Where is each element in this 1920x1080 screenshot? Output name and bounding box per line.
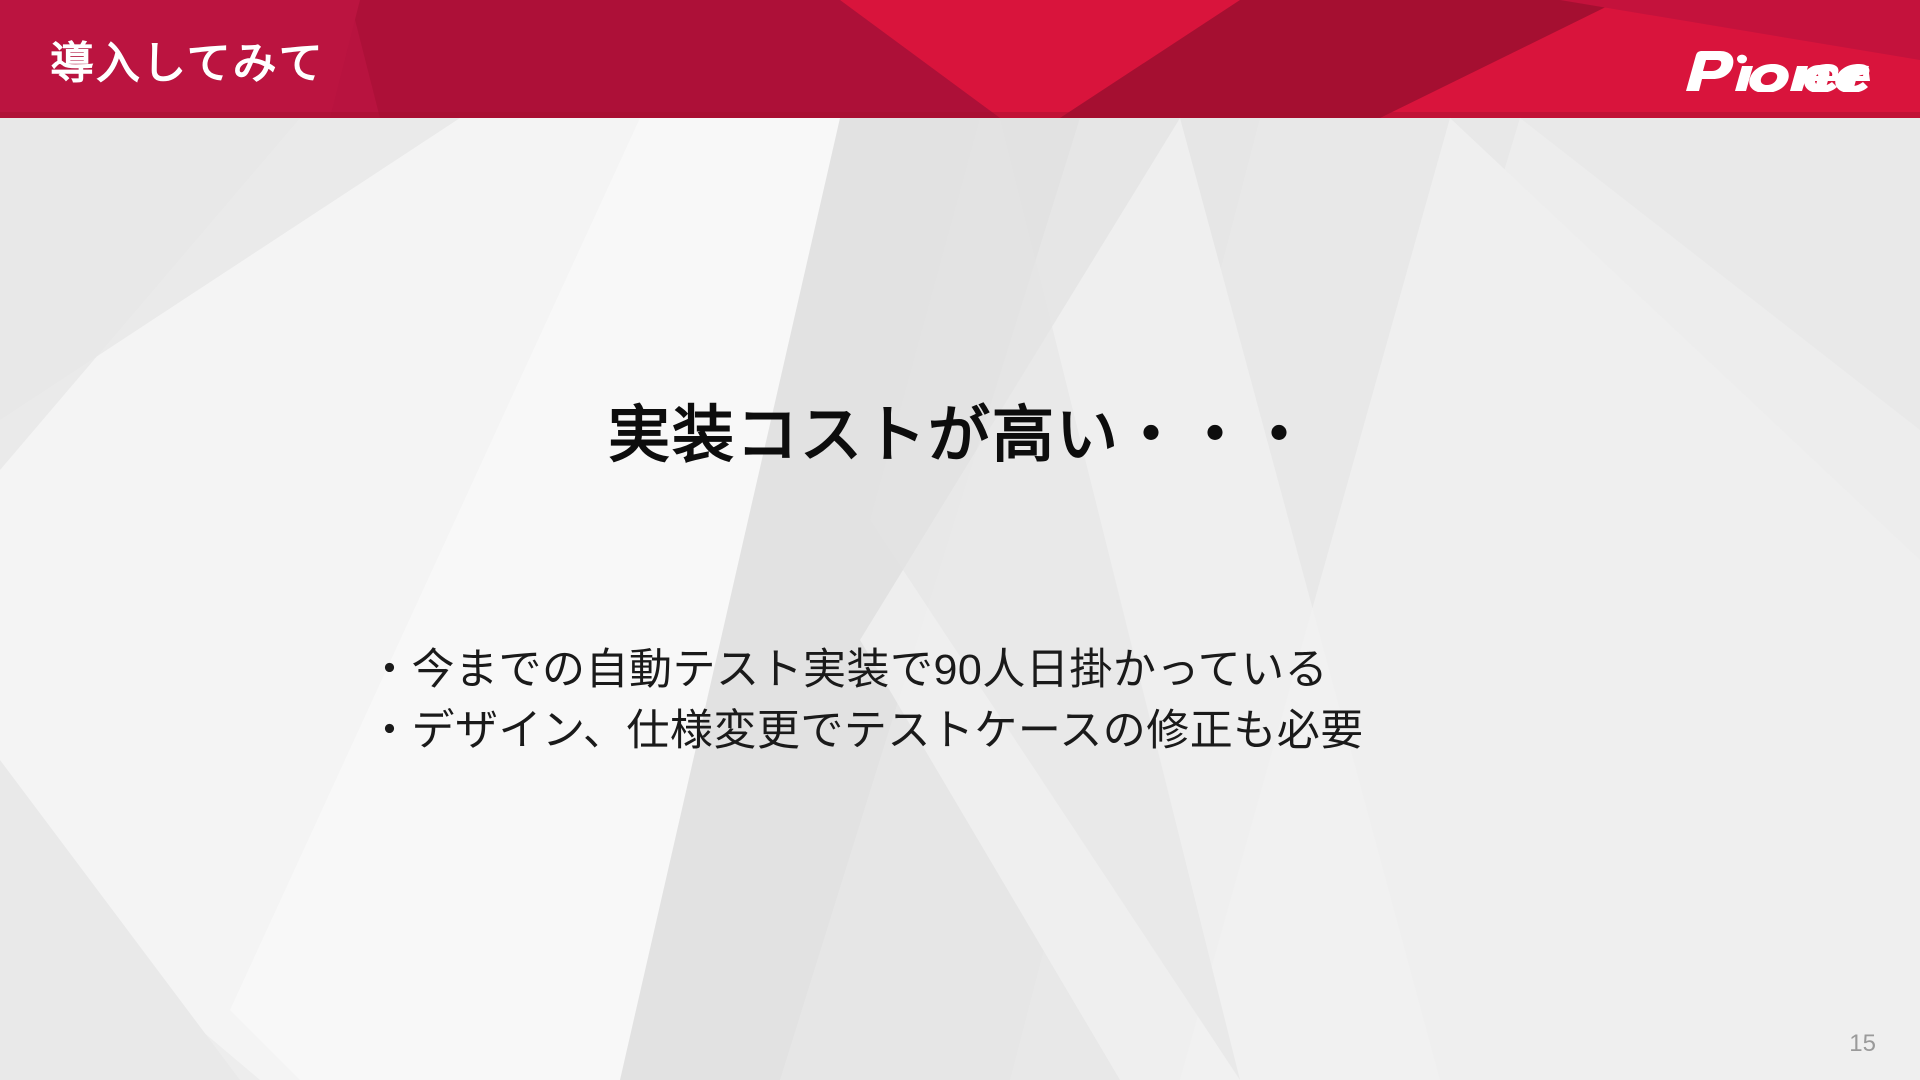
page-number: 15 [1849, 1030, 1876, 1058]
slide-header-bar: 導入してみて [0, 0, 1920, 118]
bullet-item-1: ・今までの自動テスト実装で90人日掛かっている [368, 640, 1364, 701]
main-heading: 実装コストが高い・・・ [0, 400, 1920, 471]
page-title: 導入してみて [50, 0, 325, 118]
slide-canvas: 導入してみて 実装コストが高い・・・ ・今までの自動テスト実装で90人日掛かって… [0, 0, 1920, 1080]
bullet-item-2: ・デザイン、仕様変更でテストケースの修正も必要 [368, 701, 1364, 762]
bullet-list: ・今までの自動テスト実装で90人日掛かっている ・デザイン、仕様変更でテストケー… [368, 640, 1364, 762]
slide-content: 実装コストが高い・・・ ・今までの自動テスト実装で90人日掛かっている ・デザイ… [0, 0, 1920, 1080]
pioneer-logo-icon [1680, 50, 1870, 92]
